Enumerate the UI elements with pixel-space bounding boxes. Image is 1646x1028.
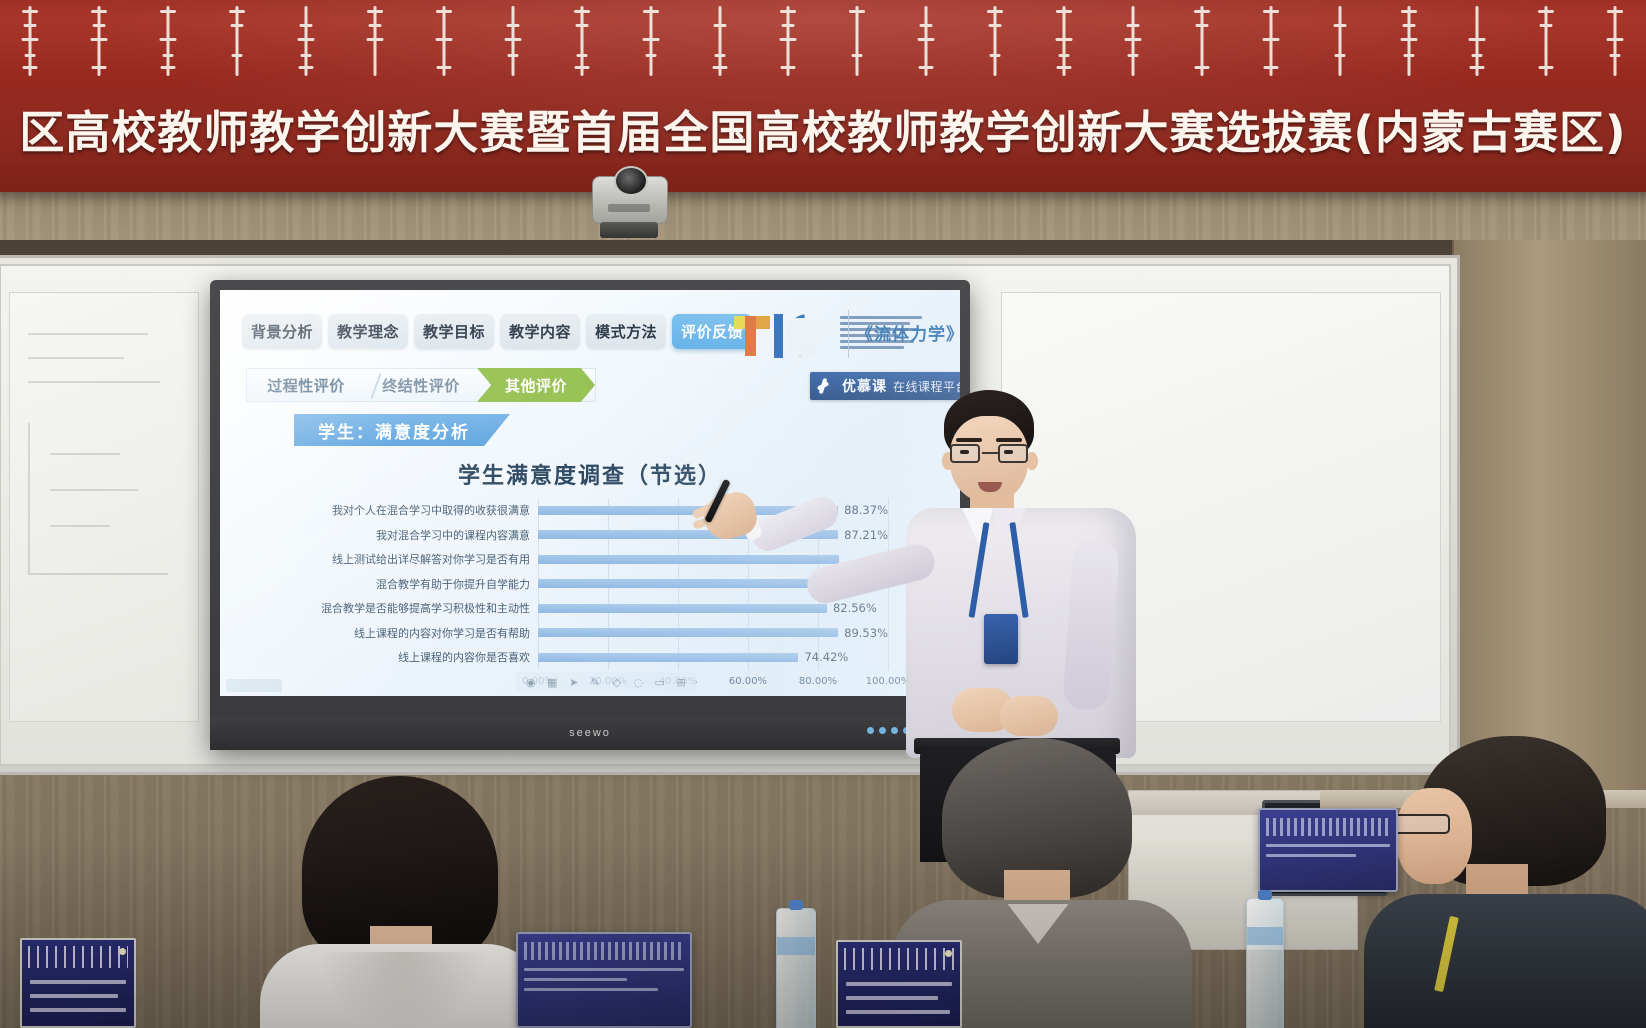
bar-category-label: 线上课程的内容你是否喜欢: [398, 649, 530, 665]
screenshot-stage: 区高校教师教学创新大赛暨首届全国高校教师教学创新大赛选拔赛(内蒙古赛区): [0, 0, 1646, 1028]
nameplate-center: [836, 940, 962, 1028]
banner-title: 区高校教师教学创新大赛暨首届全国高校教师教学创新大赛选拔赛(内蒙古赛区): [0, 96, 1646, 161]
slide-toolbar[interactable]: ◉ ▦ ➤ ✎ ◇ ◌ ▭ ⊞: [516, 672, 696, 692]
bar-value-0: 88.37%: [844, 503, 888, 517]
table-row: 线上课程的内容对你学习是否有帮助 89.53%: [538, 621, 888, 646]
subnav-other-evaluation[interactable]: 其他评价: [477, 368, 595, 402]
nameplate-left: [20, 938, 136, 1028]
platform-name: 优慕课: [842, 376, 887, 396]
audience-member-left: [258, 776, 548, 1028]
ceiling-camera: [592, 164, 666, 242]
section-banner-label: 学生：满意度分析: [318, 418, 470, 443]
presentation-slide[interactable]: 背景分析 教学理念 教学目标 教学内容 模式方法 评价反馈: [220, 290, 960, 696]
present-icon[interactable]: ◉: [523, 675, 538, 690]
cursor-icon[interactable]: ➤: [566, 675, 581, 690]
water-bottle-right[interactable]: [1246, 898, 1284, 1028]
bar-category-label: 我对混合学习中的课程内容满意: [376, 527, 530, 543]
id-badge: [984, 614, 1018, 664]
audience-glasses: [1392, 814, 1450, 834]
tab-teaching-content[interactable]: 教学内容: [500, 314, 580, 349]
tab-background-analysis[interactable]: 背景分析: [242, 314, 322, 349]
pen-icon[interactable]: ✎: [588, 675, 603, 690]
subnav-summative-evaluation[interactable]: 终结性评价: [365, 368, 477, 402]
interactive-display[interactable]: 背景分析 教学理念 教学目标 教学内容 模式方法 评价反馈: [210, 280, 970, 750]
platform-logo-icon: [816, 376, 836, 396]
bar-value-5: 89.53%: [844, 626, 888, 640]
laptop-right[interactable]: [1258, 808, 1398, 892]
x-tick-60: 60.00%: [729, 676, 767, 687]
slide-tab-bar[interactable]: 背景分析 教学理念 教学目标 教学内容 模式方法 评价反馈: [242, 314, 752, 349]
event-banner: 区高校教师教学创新大赛暨首届全国高校教师教学创新大赛选拔赛(内蒙古赛区): [0, 0, 1646, 192]
whiteboard-left-panel: [9, 292, 199, 722]
section-banner: 学生：满意度分析: [294, 414, 510, 446]
tab-teaching-philosophy[interactable]: 教学理念: [328, 314, 408, 349]
wall-column-right: [1452, 240, 1646, 800]
presenter-glasses: [950, 444, 1030, 464]
magnifier-icon[interactable]: ◌: [631, 675, 646, 690]
tab-methods[interactable]: 模式方法: [586, 314, 666, 349]
bar-4: [538, 604, 827, 613]
audience-member-right: [1370, 736, 1646, 1028]
water-bottle-left[interactable]: [776, 908, 816, 1028]
eraser-icon[interactable]: ◇: [609, 675, 624, 690]
comment-icon[interactable]: ▭: [652, 675, 667, 690]
x-tick-80: 80.00%: [799, 676, 837, 687]
camera-lens-icon: [614, 166, 648, 196]
bar-category-label: 混合教学是否能够提高学习积极性和主动性: [321, 600, 530, 616]
display-screen[interactable]: 背景分析 教学理念 教学目标 教学内容 模式方法 评价反馈: [220, 290, 960, 696]
chart-title: 学生满意度调查（节选）: [220, 458, 960, 490]
bar-6: [538, 653, 798, 662]
display-bezel-bottom: seewo: [210, 716, 970, 750]
bar-category-label: 混合教学有助于你提升自学能力: [376, 576, 530, 592]
course-title: 《流体力学》: [856, 320, 960, 345]
bar-2: [538, 555, 839, 564]
presenter-hand-right: [1000, 696, 1058, 736]
bar-value-6: 74.42%: [804, 650, 848, 664]
slide-page-indicator: [226, 679, 282, 692]
laptop-left[interactable]: [516, 932, 692, 1028]
logo-divider: [848, 310, 849, 358]
tic-logo-icon: [732, 308, 850, 362]
mongolian-script-row: [0, 2, 1646, 90]
bar-category-label: 我对个人在混合学习中取得的收获很满意: [332, 502, 530, 518]
tab-teaching-goals[interactable]: 教学目标: [414, 314, 494, 349]
table-row: 线上课程的内容你是否喜欢 74.42%: [538, 645, 888, 670]
display-brand: seewo: [569, 727, 611, 739]
bar-category-label: 线上课程的内容对你学习是否有帮助: [354, 625, 530, 641]
bar-3: [538, 579, 843, 588]
bar-5: [538, 628, 838, 637]
bar-value-1: 87.21%: [844, 528, 888, 542]
subnav-process-evaluation[interactable]: 过程性评价: [247, 368, 365, 402]
grid-icon[interactable]: ▦: [545, 675, 560, 690]
bar-category-label: 线上测试给出详尽解答对你学习是否有用: [332, 551, 530, 567]
slide-subnav[interactable]: 过程性评价 终结性评价 其他评价: [246, 368, 596, 402]
bar-value-4: 82.56%: [833, 601, 877, 615]
more-icon[interactable]: ⊞: [674, 675, 689, 690]
